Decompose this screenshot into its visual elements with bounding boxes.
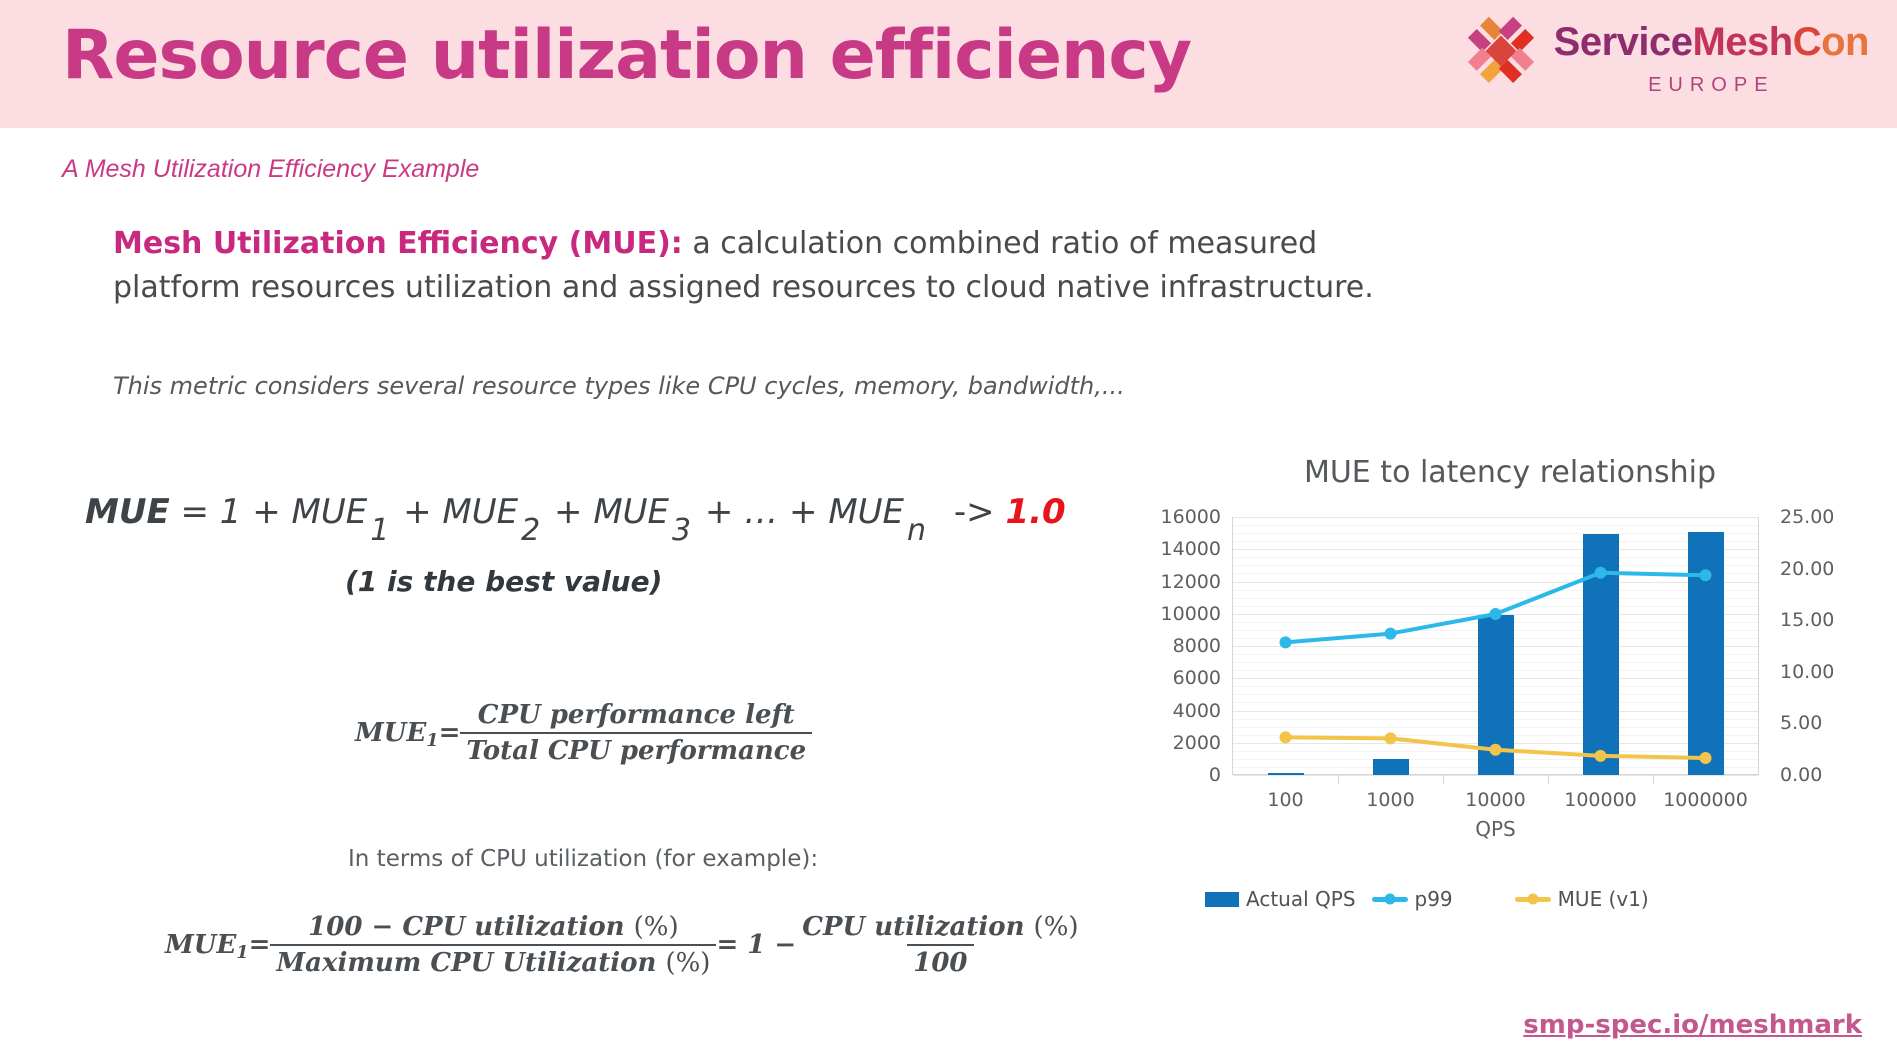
chart-x-axis-label: QPS (1233, 817, 1758, 841)
formula-mue1-expanded: MUE1 = 100 − CPU utilization (%) Maximum… (165, 912, 1085, 978)
mue-sub-2: 2 (521, 513, 546, 548)
logo-word-service: Service (1554, 20, 1693, 64)
chart-y-tick-label: 2000 (1173, 732, 1221, 754)
formula1-fraction: CPU performance left Total CPU performan… (460, 700, 812, 766)
footer-link[interactable]: smp-spec.io/meshmark (1523, 1010, 1862, 1040)
chart-legend-item[interactable]: MUE (v1) (1515, 887, 1649, 911)
chart-line-layer (1233, 517, 1758, 775)
definition-lead: Mesh Utilization Efficiency (MUE): (113, 226, 683, 261)
formula2-equals-2: = 1 − (716, 930, 796, 960)
definition-paragraph: Mesh Utilization Efficiency (MUE): a cal… (113, 222, 1403, 310)
mue-sub-n: n (907, 513, 932, 548)
logo-word-c: C (1793, 20, 1821, 64)
formula2-denominator-text: Maximum CPU Utilization (276, 948, 656, 978)
chart-data-point (1385, 732, 1397, 744)
formula1-lhs: MUE (355, 718, 426, 748)
formula1-denominator: Total CPU performance (460, 732, 812, 766)
chart-y2-tick-label: 0.00 (1780, 764, 1822, 786)
formula2-numerator-2: CPU utilization (%) (796, 912, 1084, 944)
legend-swatch-bar-icon (1205, 892, 1239, 907)
mue-term-3: + MUE (543, 492, 669, 532)
chart-y-tick-label: 12000 (1161, 571, 1221, 593)
formula1-equals: = (439, 718, 461, 748)
metric-note: This metric considers several resource t… (113, 372, 1313, 400)
chart-x-tick-label: 100 (1267, 789, 1303, 811)
logo-word-on: on (1821, 20, 1869, 64)
legend-swatch-line-icon (1372, 897, 1408, 902)
chart-title: MUE to latency relationship (1130, 455, 1890, 490)
mue-term-n: + … + MUE (694, 492, 904, 532)
servicemeshcon-logo: ServiceMeshCon EUROPE (1462, 8, 1869, 97)
chart-x-tick-mark (1338, 775, 1339, 784)
mue-sub-1: 1 (370, 513, 395, 548)
mue-equation-head: MUE (85, 492, 170, 532)
formula2-numerator2-pct: (%) (1034, 912, 1079, 942)
chart-y2-tick-label: 15.00 (1780, 609, 1834, 631)
chart-x-tick-mark (1548, 775, 1549, 784)
formula2-denominator-pct: (%) (665, 948, 710, 978)
chart-y-tick-label: 0 (1209, 764, 1221, 786)
logo-mark-icon (1462, 12, 1540, 90)
chart-y2-tick-label: 10.00 (1780, 661, 1834, 683)
chart-x-tick-label: 100000 (1564, 789, 1637, 811)
chart-y2-tick-label: 20.00 (1780, 558, 1834, 580)
formula2-denominator-2: 100 (907, 944, 973, 978)
chart-legend-label: p99 (1415, 887, 1453, 911)
cpu-utilization-note: In terms of CPU utilization (for example… (348, 846, 818, 872)
chart-y-tick-label: 4000 (1173, 700, 1221, 722)
mue-limit-value: 1.0 (1005, 492, 1065, 532)
chart-legend-item[interactable]: p99 (1372, 887, 1453, 911)
chart-data-point (1700, 752, 1712, 764)
logo-text: ServiceMeshCon EUROPE (1554, 8, 1869, 97)
chart-x-tick-mark (1443, 775, 1444, 784)
logo-wordmark: ServiceMeshCon (1554, 22, 1869, 62)
formula2-fraction-1: 100 − CPU utilization (%) Maximum CPU Ut… (270, 912, 716, 978)
chart-y2-tick-label: 25.00 (1780, 506, 1834, 528)
chart-y-tick-label: 8000 (1173, 635, 1221, 657)
slide-subtitle: A Mesh Utilization Efficiency Example (62, 155, 479, 184)
chart-x-tick-label: 1000 (1366, 789, 1414, 811)
mue-term-2: + MUE (392, 492, 518, 532)
formula2-numerator2-text: CPU utilization (802, 912, 1024, 942)
logo-subtitle: EUROPE (1648, 74, 1774, 97)
chart-x-tick-label: 1000000 (1663, 789, 1748, 811)
chart-data-point (1280, 731, 1292, 743)
formula1-lhs-sub: 1 (426, 730, 438, 751)
formula2-fraction-2: CPU utilization (%) 100 (796, 912, 1084, 978)
mue-sub-3: 3 (672, 513, 697, 548)
chart-legend-item[interactable]: Actual QPS (1205, 887, 1356, 911)
chart-data-point (1700, 569, 1712, 581)
chart-y-tick-label: 10000 (1161, 603, 1221, 625)
chart-y-tick-label: 14000 (1161, 538, 1221, 560)
chart-legend-label: Actual QPS (1246, 887, 1356, 911)
slide: Resource utilization efficiency ServiceM… (0, 0, 1897, 1050)
mue-equation-eq: = 1 + MUE (170, 492, 368, 532)
formula2-lhs-sub: 1 (236, 942, 248, 963)
chart-gridline (1233, 775, 1758, 776)
formula2-numerator: 100 − CPU utilization (%) (302, 912, 684, 944)
chart-line-p99 (1286, 573, 1706, 643)
chart-y2-axis-line (1758, 517, 1759, 775)
chart-data-point (1385, 628, 1397, 640)
chart-data-point (1280, 636, 1292, 648)
chart-y-tick-label: 16000 (1161, 506, 1221, 528)
formula2-numerator-text: 100 − CPU utilization (308, 912, 624, 942)
chart-data-point (1490, 744, 1502, 756)
formula2-numerator-pct: (%) (634, 912, 679, 942)
chart-mue-latency: MUE to latency relationship 020004000600… (1130, 455, 1890, 955)
formula2-lhs: MUE (165, 930, 236, 960)
chart-data-point (1490, 608, 1502, 620)
chart-plot-area: 02000400060008000100001200014000160000.0… (1233, 517, 1758, 775)
formula1-numerator: CPU performance left (472, 700, 801, 732)
chart-x-tick-mark (1653, 775, 1654, 784)
logo-word-mesh: Mesh (1692, 20, 1792, 64)
formula2-denominator: Maximum CPU Utilization (%) (270, 944, 716, 978)
chart-data-point (1595, 567, 1607, 579)
mue-best-value-note: (1 is the best value) (345, 565, 662, 598)
page-title: Resource utilization efficiency (62, 16, 1191, 95)
formula2-equals: = (249, 930, 271, 960)
chart-y2-tick-label: 5.00 (1780, 712, 1822, 734)
chart-legend: Actual QPSp99MUE (v1) (1205, 887, 1805, 911)
mue-equation: MUE = 1 + MUE1 + MUE2 + MUE3 + … + MUEn … (85, 492, 1066, 532)
chart-legend-label: MUE (v1) (1558, 887, 1649, 911)
formula-mue1-cpu: MUE1 = CPU performance left Total CPU pe… (355, 700, 812, 766)
chart-data-point (1595, 750, 1607, 762)
chart-y-tick-label: 6000 (1173, 667, 1221, 689)
chart-x-tick-label: 10000 (1465, 789, 1525, 811)
legend-swatch-line-icon (1515, 897, 1551, 902)
mue-arrow: -> (929, 492, 1005, 532)
